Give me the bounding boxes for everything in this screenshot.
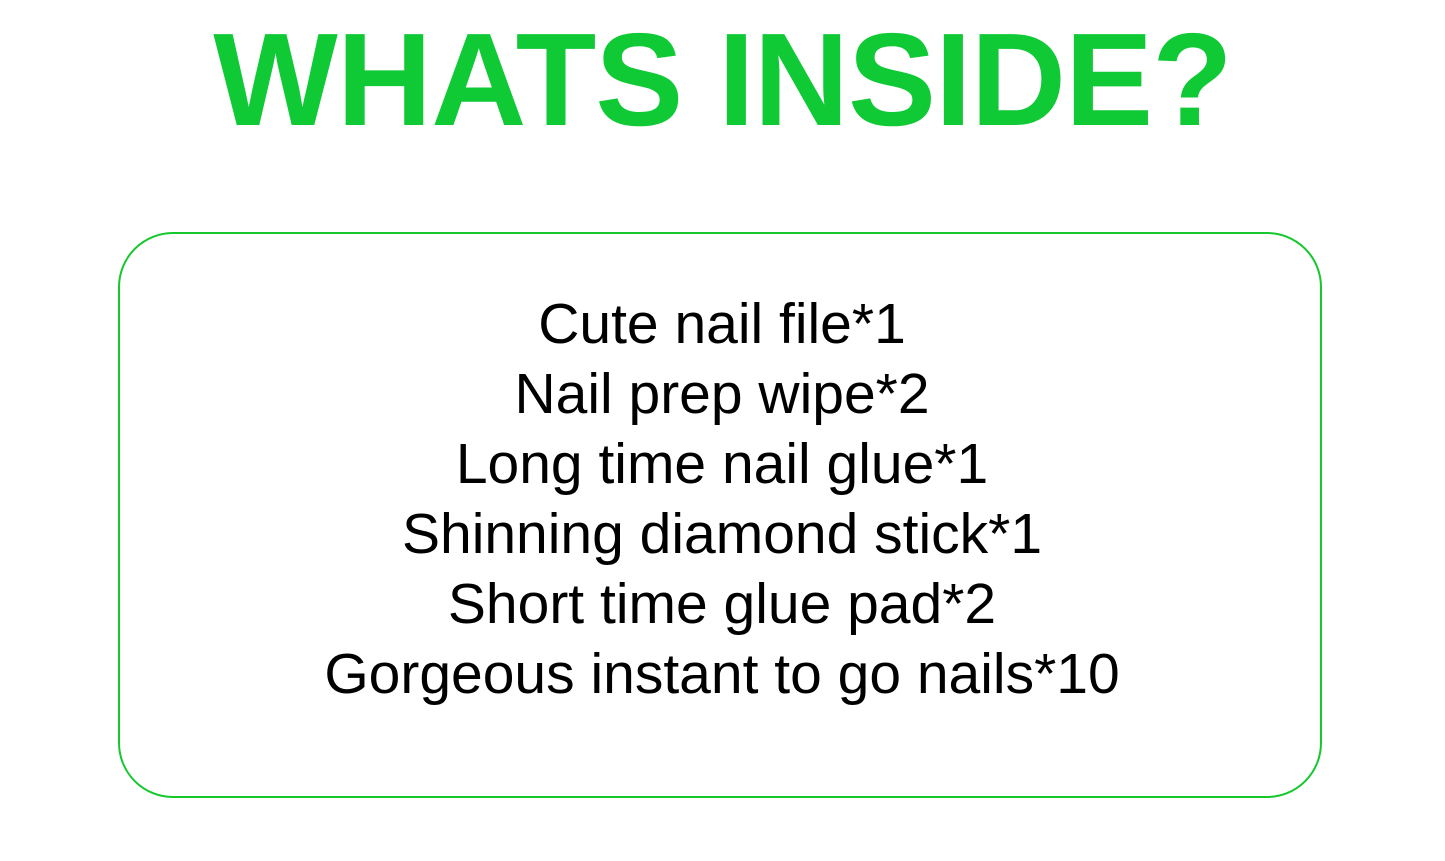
- list-item: Gorgeous instant to go nails*10: [120, 639, 1324, 709]
- list-item: Nail prep wipe*2: [120, 359, 1324, 429]
- list-item: Long time nail glue*1: [120, 429, 1324, 499]
- contents-card: Cute nail file*1 Nail prep wipe*2 Long t…: [118, 232, 1322, 798]
- list-item: Short time glue pad*2: [120, 569, 1324, 639]
- list-item: Cute nail file*1: [120, 289, 1324, 359]
- contents-list: Cute nail file*1 Nail prep wipe*2 Long t…: [120, 289, 1324, 709]
- list-item: Shinning diamond stick*1: [120, 499, 1324, 569]
- product-contents-slide: WHATS INSIDE? Cute nail file*1 Nail prep…: [0, 0, 1445, 861]
- page-title: WHATS INSIDE?: [0, 0, 1445, 160]
